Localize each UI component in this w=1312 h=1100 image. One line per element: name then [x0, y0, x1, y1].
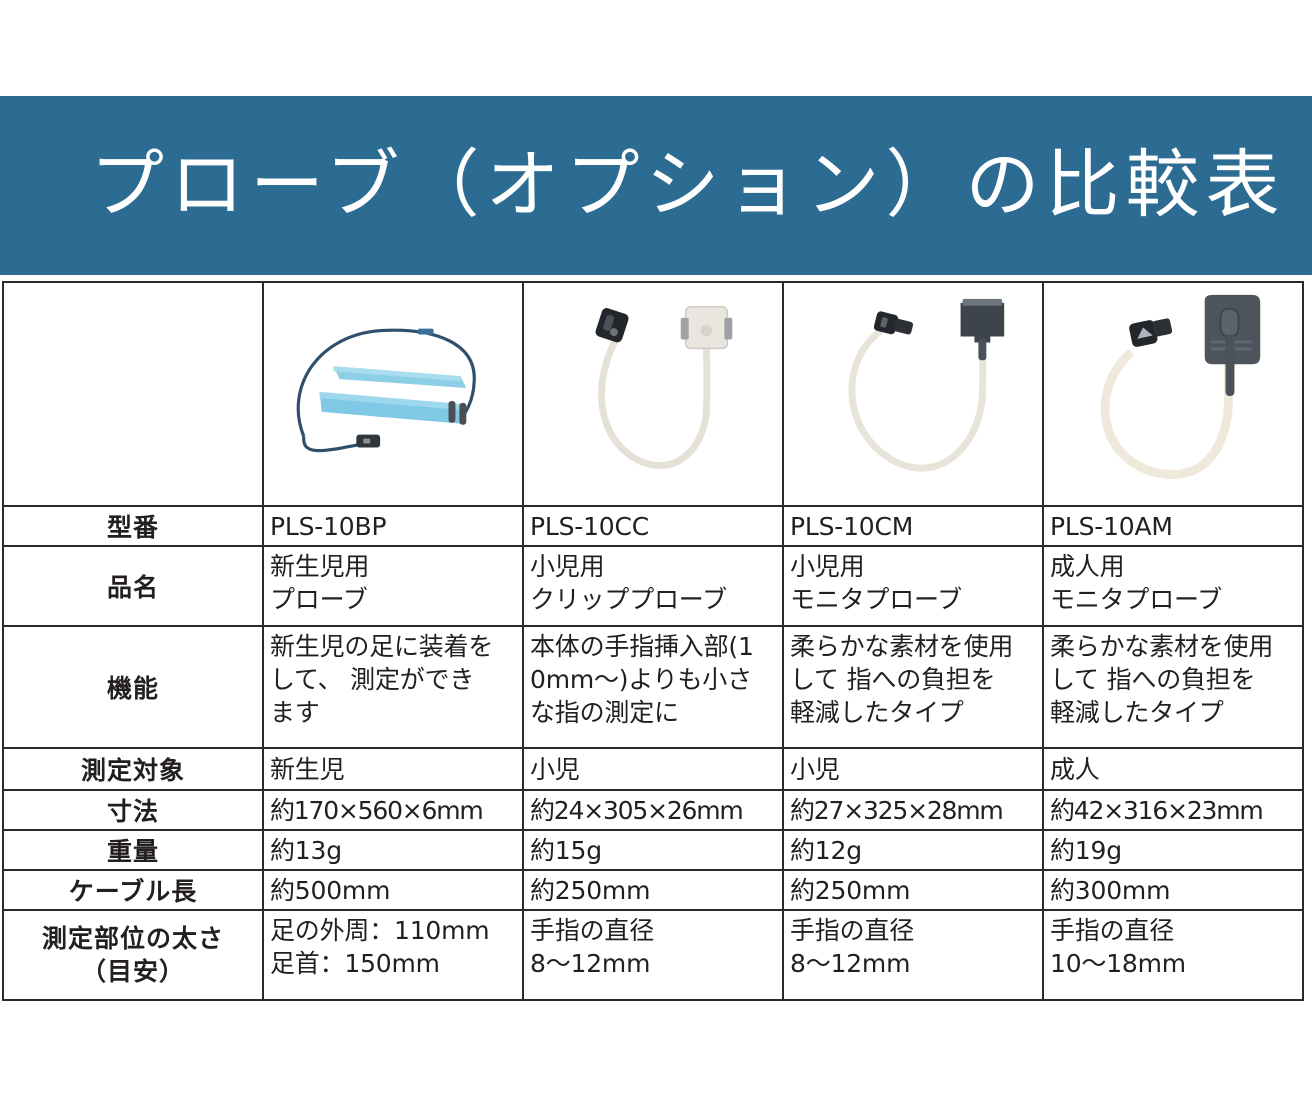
cell-image-col3 — [783, 282, 1043, 506]
cell-thickness-col3: 手指の直径 8〜12mm — [783, 910, 1043, 1000]
row-label-thickness-line1: 測定部位の太さ — [8, 922, 258, 955]
cell-dimension-col1: 約170×560×6mm — [263, 790, 523, 830]
adult-monitor-probe-photo — [1044, 283, 1302, 505]
cell-name-col3: 小児用 モニタプローブ — [783, 546, 1043, 626]
probe-comparison-page: プローブ（オプション）の比較表 — [0, 0, 1312, 1100]
row-label-thickness-line2: （目安） — [8, 955, 258, 988]
table-row-name: 品名 新生児用 プローブ 小児用 クリッププローブ 小児用 モニタプローブ 成人… — [3, 546, 1303, 626]
cell-model-col3: PLS-10CM — [783, 506, 1043, 546]
pediatric-clip-probe-photo — [524, 283, 782, 505]
title-banner: プローブ（オプション）の比較表 — [0, 96, 1312, 275]
table-row-weight: 重量 約13g 約15g 約12g 約19g — [3, 830, 1303, 870]
row-label-cable-length: ケーブル長 — [3, 870, 263, 910]
cell-name-col4: 成人用 モニタプローブ — [1043, 546, 1303, 626]
table-row-model: 型番 PLS-10BP PLS-10CC PLS-10CM PLS-10AM — [3, 506, 1303, 546]
cell-name-col1: 新生児用 プローブ — [263, 546, 523, 626]
row-label-thickness: 測定部位の太さ （目安） — [3, 910, 263, 1000]
cell-cable-col2: 約250mm — [523, 870, 783, 910]
table-row-dimension: 寸法 約170×560×6mm 約24×305×26mm 約27×325×28m… — [3, 790, 1303, 830]
table-row-function: 機能 新生児の足に装着を して、 測定ができ ます 本体の手指挿入部(1 0mm… — [3, 626, 1303, 748]
table-row-target: 測定対象 新生児 小児 小児 成人 — [3, 748, 1303, 790]
cell-weight-col4: 約19g — [1043, 830, 1303, 870]
cell-weight-col1: 約13g — [263, 830, 523, 870]
cell-function-col2: 本体の手指挿入部(1 0mm〜)よりも小さ な指の測定に — [523, 626, 783, 748]
cell-model-col4: PLS-10AM — [1043, 506, 1303, 546]
pediatric-monitor-probe-photo — [784, 283, 1042, 505]
cell-target-col3: 小児 — [783, 748, 1043, 790]
probe-comparison-table: 型番 PLS-10BP PLS-10CC PLS-10CM PLS-10AM 品… — [2, 281, 1304, 1001]
cell-cable-col4: 約300mm — [1043, 870, 1303, 910]
cell-thickness-col1: 足の外周：110mm 足首：150mm — [263, 910, 523, 1000]
cell-cable-col1: 約500mm — [263, 870, 523, 910]
cell-weight-col3: 約12g — [783, 830, 1043, 870]
row-label-model: 型番 — [3, 506, 263, 546]
row-label-dimension: 寸法 — [3, 790, 263, 830]
cell-image-col1 — [263, 282, 523, 506]
table-row-thickness: 測定部位の太さ （目安） 足の外周：110mm 足首：150mm 手指の直径 8… — [3, 910, 1303, 1000]
row-label-target: 測定対象 — [3, 748, 263, 790]
row-label-function: 機能 — [3, 626, 263, 748]
cell-name-col2: 小児用 クリッププローブ — [523, 546, 783, 626]
cell-target-col2: 小児 — [523, 748, 783, 790]
cell-function-col1: 新生児の足に装着を して、 測定ができ ます — [263, 626, 523, 748]
table-row-images — [3, 282, 1303, 506]
neonatal-wrap-probe-photo — [264, 283, 522, 505]
cell-cable-col3: 約250mm — [783, 870, 1043, 910]
page-title: プローブ（オプション）の比較表 — [90, 147, 1286, 225]
row-label-weight: 重量 — [3, 830, 263, 870]
cell-target-col1: 新生児 — [263, 748, 523, 790]
cell-target-col4: 成人 — [1043, 748, 1303, 790]
cell-image-col2 — [523, 282, 783, 506]
cell-dimension-col3: 約27×325×28mm — [783, 790, 1043, 830]
row-label-name: 品名 — [3, 546, 263, 626]
cell-image-col4 — [1043, 282, 1303, 506]
cell-thickness-col4: 手指の直径 10〜18mm — [1043, 910, 1303, 1000]
cell-weight-col2: 約15g — [523, 830, 783, 870]
cell-dimension-col2: 約24×305×26mm — [523, 790, 783, 830]
table-row-cable-length: ケーブル長 約500mm 約250mm 約250mm 約300mm — [3, 870, 1303, 910]
cell-dimension-col4: 約42×316×23mm — [1043, 790, 1303, 830]
cell-function-col3: 柔らかな素材を使用 して 指への負担を 軽減したタイプ — [783, 626, 1043, 748]
row-label-images — [3, 282, 263, 506]
cell-function-col4: 柔らかな素材を使用 して 指への負担を 軽減したタイプ — [1043, 626, 1303, 748]
cell-model-col1: PLS-10BP — [263, 506, 523, 546]
cell-thickness-col2: 手指の直径 8〜12mm — [523, 910, 783, 1000]
cell-model-col2: PLS-10CC — [523, 506, 783, 546]
